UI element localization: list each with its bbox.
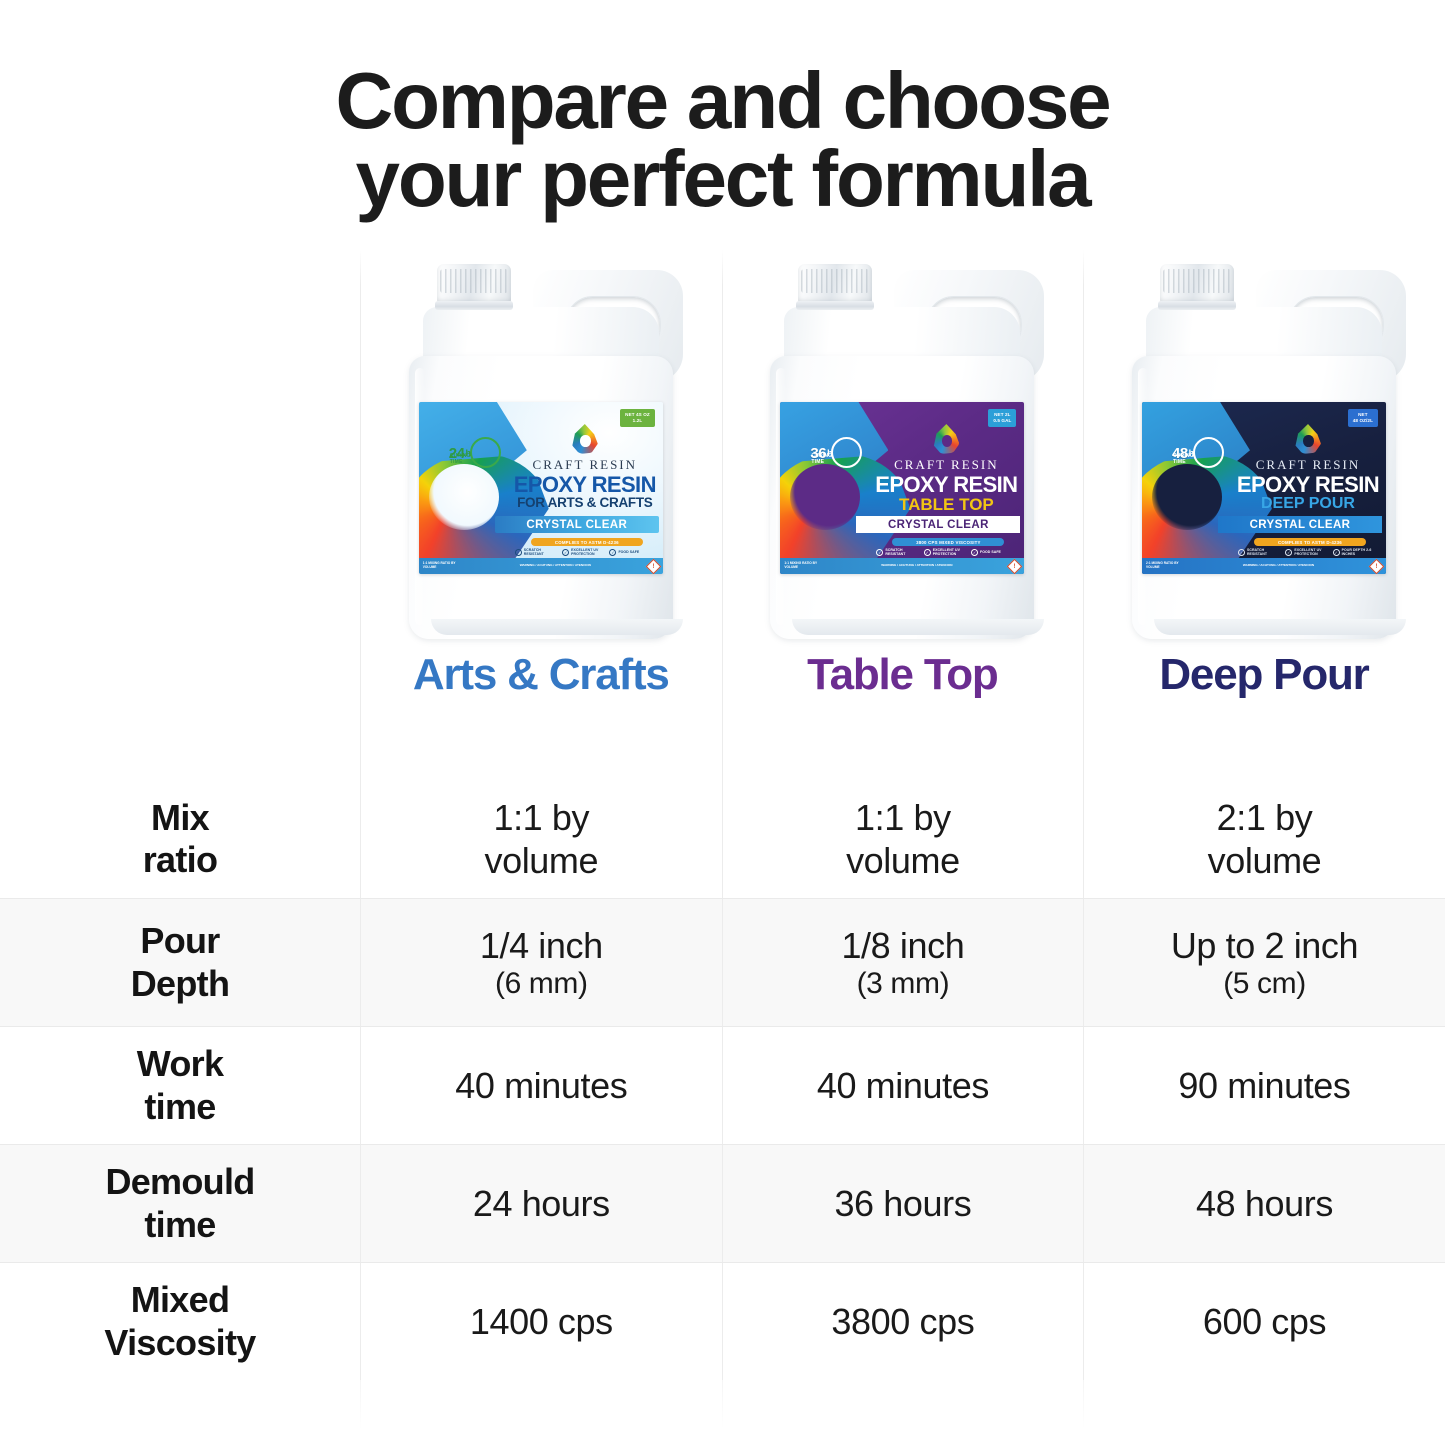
label-swoosh-inner (1152, 464, 1222, 530)
hazard-warning-icon: ! (1007, 558, 1023, 574)
feature-check-icon: ✓ (562, 549, 569, 556)
curing-time-caption: CURING TIME (450, 454, 484, 466)
label-warning-text: WARNING / ACHTUNG / ATTENTION / ATENCION (463, 564, 648, 568)
feature-label: POUR DEPTH 2-6 INCHES (1342, 549, 1378, 557)
label-product-title: EPOXY RESIN (511, 474, 659, 496)
cell-value-main: 48 hours (1196, 1182, 1333, 1225)
cell-value-main: 600 cps (1203, 1300, 1326, 1343)
comparison-table: Mixratio 1:1 byvolume 1:1 byvolume 2:1 b… (0, 780, 1445, 1380)
feature-check-icon: ✓ (1285, 549, 1292, 556)
cell-value-main: 40 minutes (817, 1064, 989, 1107)
jug-base (431, 619, 683, 635)
product-column-1: 24 h CURING TIME NET 4S OZ1.2L CRAFT RES… (360, 252, 722, 752)
jug-base (792, 619, 1044, 635)
label-viscosity-strip: COMPLIES TO ASTM D-4236 (531, 538, 643, 546)
label-warning-strip: 2:1 MIXING RATIO BY VOLUME WARNING / ACH… (1142, 558, 1386, 574)
feature-label: SCRATCH RESISTANT (885, 549, 921, 557)
label-crystal-clear-bar: CRYSTAL CLEAR (1218, 516, 1382, 533)
label-swoosh-inner (790, 464, 860, 530)
feature-label: FOOD SAFE (618, 551, 639, 555)
cell-value-main: 90 minutes (1178, 1064, 1350, 1107)
curing-time-caption: CURING TIME (1173, 454, 1207, 466)
jug-cap-ring (1158, 301, 1236, 310)
label-warning-strip: 1:1 MIXING RATIO BY VOLUME WARNING / ACH… (780, 558, 1024, 574)
table-row: Demouldtime 24 hours 36 hours 48 hours (0, 1144, 1445, 1262)
feature-item: ✓ EXCELLENT UV PROTECTION (562, 549, 607, 557)
product-label: 48 h CURING TIME NET48 OZ/2L CRAFT RESIN… (1142, 402, 1386, 574)
cell-value-main: Up to 2 inch (1171, 924, 1358, 967)
label-crystal-clear-bar: CRYSTAL CLEAR (856, 516, 1020, 533)
feature-item: ✓ SCRATCH RESISTANT (876, 549, 921, 557)
feature-item: ✓ FOOD SAFE (609, 549, 654, 557)
cell-value-sub: (5 cm) (1223, 967, 1306, 1002)
hazard-mark: ! (652, 563, 654, 569)
feature-item: ✓ EXCELLENT UV PROTECTION (924, 549, 969, 557)
jug-cap (798, 264, 872, 304)
label-mixing-ratio-note: 1:1 MIXING RATIO BY VOLUME (423, 562, 463, 570)
comparison-infographic: Compare and choose your perfect formula (0, 0, 1445, 1445)
label-viscosity-strip: COMPLIES TO ASTM D-4236 (1254, 538, 1366, 546)
feature-label: SCRATCH RESISTANT (524, 549, 560, 557)
feature-check-icon: ✓ (515, 549, 522, 556)
label-swoosh-inner (429, 464, 499, 530)
page-title-line-1: Compare and choose (0, 62, 1445, 140)
label-product-subtitle: TABLE TOP (872, 496, 1020, 513)
feature-check-icon: ✓ (971, 549, 978, 556)
row-header-label: Demouldtime (0, 1145, 360, 1262)
product-label: 36 h CURING TIME NET 2L0.5 GAL CRAFT RES… (780, 402, 1024, 574)
brand-name: CRAFT RESIN (533, 457, 637, 473)
feature-check-icon: ✓ (1238, 549, 1245, 556)
feature-item: ✓ SCRATCH RESISTANT (1238, 549, 1283, 557)
jug-cap (437, 264, 511, 304)
page-title-line-2: your perfect formula (0, 140, 1445, 218)
table-cell: 48 hours (1083, 1145, 1445, 1262)
brand-name: CRAFT RESIN (894, 457, 998, 473)
craft-resin-droplet-logo-icon (1295, 424, 1321, 454)
product-jug: 36 h CURING TIME NET 2L0.5 GAL CRAFT RES… (754, 264, 1050, 639)
table-cell: 40 minutes (722, 1027, 1084, 1144)
table-cell: 36 hours (722, 1145, 1084, 1262)
table-row: PourDepth 1/4 inch (6 mm) 1/8 inch (3 mm… (0, 898, 1445, 1026)
feature-check-icon: ✓ (609, 549, 616, 556)
feature-item: ✓ FOOD SAFE (971, 549, 1016, 557)
jug-base (1154, 619, 1406, 635)
cell-value-main: 3800 cps (831, 1300, 974, 1343)
table-cell: 1/4 inch (6 mm) (360, 899, 722, 1026)
table-row: Worktime 40 minutes 40 minutes 90 minute… (0, 1026, 1445, 1144)
row-header-label: PourDepth (0, 899, 360, 1026)
feature-label: EXCELLENT UV PROTECTION (1294, 549, 1330, 557)
feature-label: EXCELLENT UV PROTECTION (571, 549, 607, 557)
feature-item: ✓ EXCELLENT UV PROTECTION (1285, 549, 1330, 557)
product-name-heading: Deep Pour (1159, 653, 1368, 697)
row-header-label: Mixratio (0, 780, 360, 898)
table-row: MixedViscosity 1400 cps 3800 cps 600 cps (0, 1262, 1445, 1380)
curing-time-badge: 36 h CURING TIME (810, 436, 862, 470)
craft-resin-droplet-logo-icon (572, 424, 598, 454)
product-name-heading: Arts & Crafts (413, 653, 669, 697)
curing-time-badge: 24 h CURING TIME (449, 436, 501, 470)
jug-cap (1160, 264, 1234, 304)
label-product-title: EPOXY RESIN (872, 474, 1020, 496)
label-warning-text: WARNING / ACHTUNG / ATTENTION / ATENCION (824, 564, 1009, 568)
cell-value-main: 36 hours (834, 1182, 971, 1225)
product-columns: 24 h CURING TIME NET 4S OZ1.2L CRAFT RES… (360, 252, 1445, 752)
page-title: Compare and choose your perfect formula (0, 62, 1445, 219)
cell-value-sub: (6 mm) (495, 967, 588, 1002)
hazard-warning-icon: ! (1369, 558, 1385, 574)
cell-value-main: 1:1 byvolume (846, 796, 960, 882)
cell-value-main: 40 minutes (455, 1064, 627, 1107)
label-viscosity-strip: 3800 CPS MIXED VISCOSITY (892, 538, 1004, 546)
craft-resin-droplet-logo-icon (933, 424, 959, 454)
product-column-3: 48 h CURING TIME NET48 OZ/2L CRAFT RESIN… (1083, 252, 1445, 752)
table-cell: 24 hours (360, 1145, 722, 1262)
curing-time-badge: 48 h CURING TIME (1172, 436, 1224, 470)
brand-name: CRAFT RESIN (1256, 457, 1360, 473)
table-cell: 1:1 byvolume (360, 780, 722, 898)
label-crystal-clear-bar: CRYSTAL CLEAR (495, 516, 659, 533)
hazard-mark: ! (1014, 563, 1016, 569)
table-row: Mixratio 1:1 byvolume 1:1 byvolume 2:1 b… (0, 780, 1445, 898)
cell-value-main: 1:1 byvolume (484, 796, 598, 882)
cell-value-sub: (3 mm) (857, 967, 950, 1002)
label-product-title: EPOXY RESIN (1234, 474, 1382, 496)
label-mixing-ratio-note: 2:1 MIXING RATIO BY VOLUME (1146, 562, 1186, 570)
feature-item: ✓ POUR DEPTH 2-6 INCHES (1333, 549, 1378, 557)
feature-check-icon: ✓ (924, 549, 931, 556)
cell-value-main: 1/8 inch (841, 924, 964, 967)
cell-value-main: 1400 cps (470, 1300, 613, 1343)
brand-lockup: CRAFT RESIN (872, 424, 1020, 473)
table-cell: 1400 cps (360, 1263, 722, 1380)
hazard-mark: ! (1375, 563, 1377, 569)
brand-lockup: CRAFT RESIN (511, 424, 659, 473)
product-jug: 24 h CURING TIME NET 4S OZ1.2L CRAFT RES… (393, 264, 689, 639)
row-header-label: MixedViscosity (0, 1263, 360, 1380)
table-cell: Up to 2 inch (5 cm) (1083, 899, 1445, 1026)
feature-label: EXCELLENT UV PROTECTION (933, 549, 969, 557)
cell-value-main: 24 hours (473, 1182, 610, 1225)
feature-item: ✓ SCRATCH RESISTANT (515, 549, 560, 557)
table-cell: 600 cps (1083, 1263, 1445, 1380)
product-column-2: 36 h CURING TIME NET 2L0.5 GAL CRAFT RES… (722, 252, 1084, 752)
feature-check-icon: ✓ (1333, 549, 1340, 556)
label-product-subtitle: FOR ARTS & CRAFTS (511, 496, 659, 510)
curing-time-caption: CURING TIME (811, 454, 845, 466)
label-warning-strip: 1:1 MIXING RATIO BY VOLUME WARNING / ACH… (419, 558, 663, 574)
brand-lockup: CRAFT RESIN (1234, 424, 1382, 473)
table-cell: 1:1 byvolume (722, 780, 1084, 898)
label-product-subtitle: DEEP POUR (1234, 496, 1382, 512)
label-warning-text: WARNING / ACHTUNG / ATTENTION / ATENCION (1186, 564, 1371, 568)
jug-cap-ring (796, 301, 874, 310)
jug-cap-ring (435, 301, 513, 310)
row-header-label: Worktime (0, 1027, 360, 1144)
cell-value-main: 2:1 byvolume (1208, 796, 1322, 882)
product-label: 24 h CURING TIME NET 4S OZ1.2L CRAFT RES… (419, 402, 663, 574)
table-cell: 90 minutes (1083, 1027, 1445, 1144)
label-mixing-ratio-note: 1:1 MIXING RATIO BY VOLUME (784, 562, 824, 570)
feature-label: SCRATCH RESISTANT (1247, 549, 1283, 557)
table-cell: 40 minutes (360, 1027, 722, 1144)
table-cell: 2:1 byvolume (1083, 780, 1445, 898)
cell-value-main: 1/4 inch (480, 924, 603, 967)
table-cell: 3800 cps (722, 1263, 1084, 1380)
product-jug: 48 h CURING TIME NET48 OZ/2L CRAFT RESIN… (1116, 264, 1412, 639)
product-name-heading: Table Top (807, 653, 997, 697)
feature-check-icon: ✓ (876, 549, 883, 556)
hazard-warning-icon: ! (646, 558, 662, 574)
table-cell: 1/8 inch (3 mm) (722, 899, 1084, 1026)
feature-label: FOOD SAFE (980, 551, 1001, 555)
